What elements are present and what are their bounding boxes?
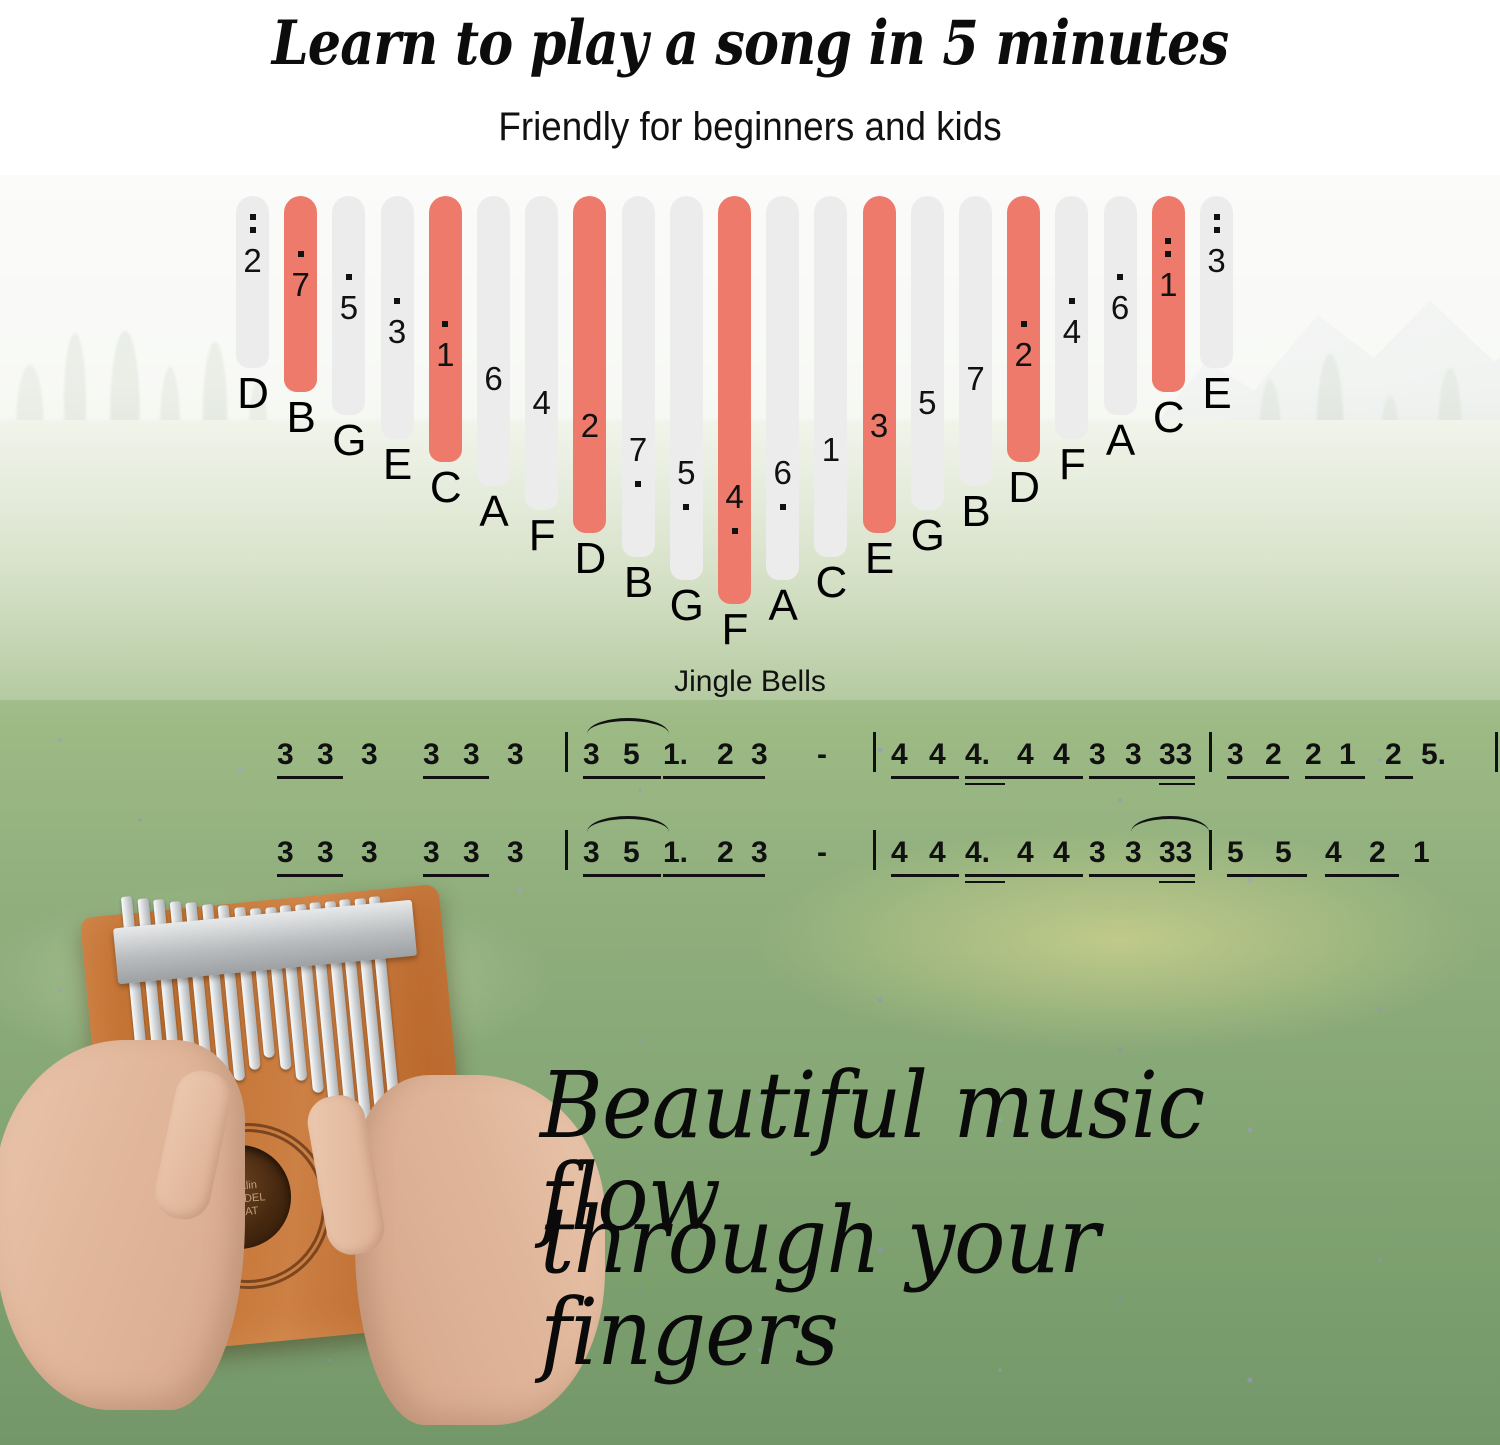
note-1-25: 2 — [1385, 738, 1402, 772]
beam-line — [277, 776, 343, 779]
note-2-2: 3 — [317, 836, 334, 870]
note-1-1: 3 — [277, 738, 294, 772]
note-2-9: 1. — [663, 836, 688, 870]
tine-4-dots-above-icon — [381, 298, 414, 311]
kalimba-instrument-photo: Kalin MODEL MAT — [55, 890, 575, 1410]
tine-14-letter: E — [857, 537, 903, 581]
barline-end — [1495, 732, 1498, 772]
tine-7-F[interactable] — [525, 196, 558, 510]
tine-9-B[interactable] — [622, 196, 655, 557]
tine-20-number: 1 — [1152, 268, 1185, 301]
note-1-21: 3 — [1227, 738, 1244, 772]
note-1-18: 3 — [1089, 738, 1106, 772]
beam-line-secondary — [965, 881, 1005, 883]
tine-11-letter: F — [712, 608, 758, 652]
note-1-16: 4 — [1017, 738, 1034, 772]
note-1-9: 1. — [663, 738, 688, 772]
barline — [565, 830, 568, 870]
note-1-8: 5 — [623, 738, 640, 772]
beam-line — [583, 776, 661, 779]
tine-15-G[interactable] — [911, 196, 944, 510]
tine-14-number: 3 — [863, 409, 896, 442]
beam-line — [1385, 776, 1413, 779]
tine-10-letter: G — [664, 584, 710, 628]
tine-9-number: 7 — [622, 433, 655, 466]
beam-line-secondary — [965, 783, 1005, 785]
tine-21-letter: E — [1194, 372, 1240, 416]
tine-18-dots-above-icon — [1055, 298, 1088, 311]
note-2-18: 3 — [1089, 836, 1106, 870]
note-1-15: 4. — [965, 738, 990, 772]
note-1-20: 33 — [1159, 738, 1192, 772]
note-1-23: 2 — [1305, 738, 1322, 772]
beam-line — [583, 874, 661, 877]
notation-row-1: 333333351.23-444.443333322125. — [265, 730, 1265, 792]
tine-8-D[interactable] — [573, 196, 606, 533]
kalimba-tine-diagram: 2D7B5G3E1C6A4F2D7B5G4F6A1C3E5G7B2D4F6A1C… — [0, 0, 1500, 700]
tine-17-dots-above-icon — [1007, 321, 1040, 334]
rest-1-12: - — [817, 738, 827, 772]
tine-8-letter: D — [567, 537, 613, 581]
note-2-22: 5 — [1275, 836, 1292, 870]
tine-3-number: 5 — [332, 291, 365, 324]
beam-line — [891, 776, 959, 779]
beam-line — [663, 776, 765, 779]
note-2-1: 3 — [277, 836, 294, 870]
tine-2-number: 7 — [284, 268, 317, 301]
tine-10-dots-below-icon — [670, 504, 703, 517]
tine-19-dots-above-icon — [1104, 274, 1137, 287]
tine-5-letter: C — [423, 466, 469, 510]
note-1-6: 3 — [507, 738, 524, 772]
tine-1-number: 2 — [236, 244, 269, 277]
tine-16-number: 7 — [959, 362, 992, 395]
note-2-25: 1 — [1413, 836, 1430, 870]
note-2-10: 2 — [717, 836, 734, 870]
tine-6-letter: A — [471, 490, 517, 534]
tine-10-G[interactable] — [670, 196, 703, 580]
note-1-14: 4 — [929, 738, 946, 772]
note-1-17: 4 — [1053, 738, 1070, 772]
note-2-8: 5 — [623, 836, 640, 870]
tine-7-letter: F — [519, 514, 565, 558]
note-1-7: 3 — [583, 738, 600, 772]
tine-12-letter: A — [760, 584, 806, 628]
note-2-20: 33 — [1159, 836, 1192, 870]
tine-4-letter: E — [375, 443, 421, 487]
beam-line — [1305, 776, 1365, 779]
tine-12-A[interactable] — [766, 196, 799, 580]
beam-line-secondary — [1159, 783, 1195, 785]
note-2-23: 4 — [1325, 836, 1342, 870]
note-2-4: 3 — [423, 836, 440, 870]
tine-11-dots-below-icon — [718, 528, 751, 541]
tine-15-letter: G — [905, 514, 951, 558]
note-1-10: 2 — [717, 738, 734, 772]
rest-2-12: - — [817, 836, 827, 870]
note-1-11: 3 — [751, 738, 768, 772]
note-1-3: 3 — [361, 738, 378, 772]
beam-line — [1227, 874, 1307, 877]
beam-line-secondary — [1159, 881, 1195, 883]
tine-4-number: 3 — [381, 315, 414, 348]
note-2-14: 4 — [929, 836, 946, 870]
barline — [873, 830, 876, 870]
note-1-5: 3 — [463, 738, 480, 772]
tine-5-dots-above-icon — [429, 321, 462, 334]
tine-12-dots-below-icon — [766, 504, 799, 517]
beam-line — [1325, 874, 1399, 877]
beam-line — [423, 776, 489, 779]
tine-6-number: 6 — [477, 362, 510, 395]
tine-9-dots-below-icon — [622, 481, 655, 494]
tine-5-number: 1 — [429, 338, 462, 371]
note-1-19: 3 — [1125, 738, 1142, 772]
tine-14-E[interactable] — [863, 196, 896, 533]
tine-21-dots-above-icon — [1200, 214, 1233, 240]
song-title: Jingle Bells — [0, 665, 1500, 699]
tine-6-A[interactable] — [477, 196, 510, 486]
beam-line — [1089, 874, 1195, 877]
note-2-7: 3 — [583, 836, 600, 870]
tine-8-number: 2 — [573, 409, 606, 442]
tine-15-number: 5 — [911, 386, 944, 419]
note-2-6: 3 — [507, 836, 524, 870]
note-2-11: 3 — [751, 836, 768, 870]
notation-row-2: 333333351.23-444.443333554211 — [265, 828, 1265, 890]
barline — [565, 732, 568, 772]
tine-7-number: 4 — [525, 386, 558, 419]
tine-13-number: 1 — [814, 433, 847, 466]
note-1-13: 4 — [891, 738, 908, 772]
tine-9-letter: B — [616, 561, 662, 605]
barline — [873, 732, 876, 772]
tine-13-letter: C — [808, 561, 854, 605]
note-2-19: 3 — [1125, 836, 1142, 870]
tine-19-number: 6 — [1104, 291, 1137, 324]
note-2-17: 4 — [1053, 836, 1070, 870]
note-2-3: 3 — [361, 836, 378, 870]
beam-line — [663, 874, 765, 877]
note-1-22: 2 — [1265, 738, 1282, 772]
tagline-line-2: through your fingers — [540, 1195, 1358, 1379]
note-2-15: 4. — [965, 836, 990, 870]
tine-2-dots-above-icon — [284, 251, 317, 264]
tine-18-number: 4 — [1055, 315, 1088, 348]
tine-16-B[interactable] — [959, 196, 992, 486]
note-1-26: 5. — [1421, 738, 1446, 772]
note-1-24: 1 — [1339, 738, 1356, 772]
tine-21-number: 3 — [1200, 244, 1233, 277]
tine-18-letter: F — [1049, 443, 1095, 487]
note-2-16: 4 — [1017, 836, 1034, 870]
note-2-13: 4 — [891, 836, 908, 870]
tine-2-letter: B — [278, 396, 324, 440]
note-1-4: 3 — [423, 738, 440, 772]
note-1-2: 3 — [317, 738, 334, 772]
tine-13-C[interactable] — [814, 196, 847, 557]
tine-19-letter: A — [1098, 419, 1144, 463]
tine-12-number: 6 — [766, 456, 799, 489]
barline — [1209, 732, 1212, 772]
tine-3-letter: G — [326, 419, 372, 463]
beam-line — [1227, 776, 1289, 779]
note-2-24: 2 — [1369, 836, 1386, 870]
tine-17-number: 2 — [1007, 338, 1040, 371]
tine-11-number: 4 — [718, 480, 751, 513]
barline — [1209, 830, 1212, 870]
note-2-21: 5 — [1227, 836, 1244, 870]
tine-16-letter: B — [953, 490, 999, 534]
tine-10-number: 5 — [670, 456, 703, 489]
note-2-5: 3 — [463, 836, 480, 870]
tine-1-letter: D — [230, 372, 276, 416]
tine-20-letter: C — [1146, 396, 1192, 440]
tine-3-dots-above-icon — [332, 274, 365, 287]
beam-line — [965, 874, 1083, 877]
tine-17-letter: D — [1001, 466, 1047, 510]
tine-1-dots-above-icon — [236, 214, 269, 240]
beam-line — [423, 874, 489, 877]
beam-line — [965, 776, 1083, 779]
tine-11-F[interactable] — [718, 196, 751, 604]
tine-20-dots-above-icon — [1152, 238, 1185, 264]
beam-line — [277, 874, 343, 877]
beam-line — [1089, 776, 1195, 779]
beam-line — [891, 874, 959, 877]
